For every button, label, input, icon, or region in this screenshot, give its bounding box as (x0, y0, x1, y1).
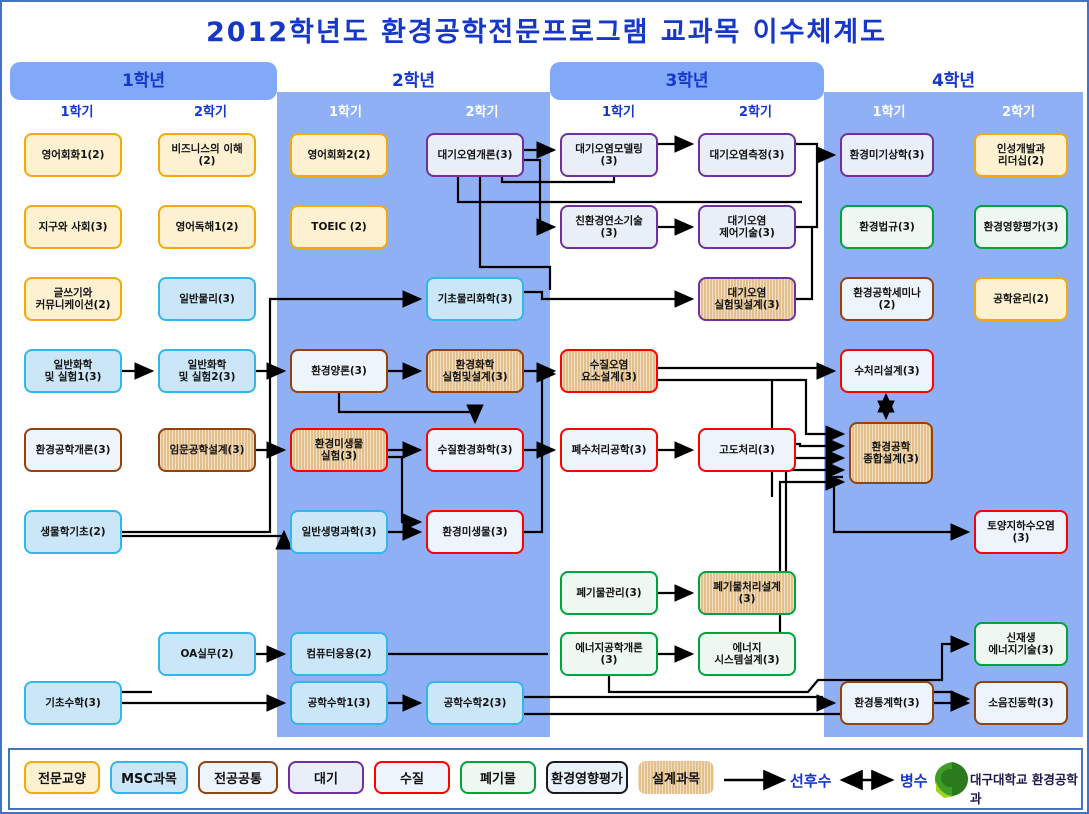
course-box[interactable]: 기초수학(3) (24, 681, 122, 725)
course-box[interactable]: 일반생명과학(3) (290, 510, 388, 554)
course-box[interactable]: 비즈니스의 이해 (2) (158, 133, 256, 177)
legend-item: 설계과목 (638, 761, 714, 794)
course-label: 폐수처리공학(3) (572, 444, 647, 456)
course-label: 환경통계학(3) (854, 697, 919, 709)
course-label: 일반화학 및 실험2(3) (179, 359, 236, 383)
course-label: 소음진동학(3) (988, 697, 1053, 709)
course-label: 비즈니스의 이해 (2) (171, 143, 242, 167)
course-label: 환경공학 종합설계(3) (863, 441, 919, 465)
legend-item-label: 폐기물 (480, 768, 516, 787)
course-label: 환경공학개론(3) (36, 444, 111, 456)
legend-item-label: 대기 (314, 768, 338, 787)
course-label: 폐기물처리설계 (3) (713, 581, 781, 605)
course-box[interactable]: 환경공학세미나 (2) (840, 277, 934, 321)
course-label: 공학수학2(3) (444, 697, 507, 709)
course-label: 환경공학세미나 (2) (853, 287, 921, 311)
semester-header-2-1: 1학기 (277, 102, 414, 124)
course-box[interactable]: 환경통계학(3) (840, 681, 934, 725)
semester-header-2-2: 2학기 (414, 102, 550, 124)
course-box[interactable]: 대기오염측정(3) (698, 133, 796, 177)
course-box[interactable]: 임문공학설계(3) (158, 428, 256, 472)
course-label: 환경화학 실험및설계(3) (442, 359, 507, 383)
course-label: 기초수학(3) (45, 697, 101, 709)
course-box[interactable]: 수질환경화학(3) (426, 428, 524, 472)
course-box[interactable]: 환경미기상학(3) (840, 133, 934, 177)
semester-header-1-1: 1학기 (10, 102, 144, 124)
legend-item: 환경영향평가 (546, 761, 628, 794)
year-header-1: 1학년 (10, 62, 277, 100)
course-label: 영어회화2(2) (308, 149, 371, 161)
legend-item-label: 전문교양 (38, 768, 86, 787)
semester-header-3-1: 1학기 (550, 102, 687, 124)
course-label: 고도처리(3) (719, 444, 775, 456)
year-header-4: 4학년 (824, 62, 1083, 100)
course-label: 생물학기초(2) (40, 526, 105, 538)
course-box[interactable]: 환경법규(3) (840, 205, 934, 249)
course-box[interactable]: 환경화학 실험및설계(3) (426, 349, 524, 393)
course-label: 영어회화1(2) (42, 149, 105, 161)
course-label: 수질오염 요소설계(3) (581, 359, 637, 383)
course-label: 컴퓨터응용(2) (306, 648, 371, 660)
semester-header-3-2: 2학기 (687, 102, 824, 124)
course-box[interactable]: 고도처리(3) (698, 428, 796, 472)
course-box[interactable]: 인성개발과 리더십(2) (974, 133, 1068, 177)
course-box[interactable]: TOEIC (2) (290, 205, 388, 249)
course-box[interactable]: 대기오염 실험및설계(3) (698, 277, 796, 321)
legend-item: MSC과목 (110, 761, 188, 794)
course-label: TOEIC (2) (311, 221, 366, 233)
course-label: 임문공학설계(3) (170, 444, 245, 456)
course-label: 일반물리(3) (179, 293, 235, 305)
course-box[interactable]: OA실무(2) (158, 632, 256, 676)
curriculum-flowchart: 2012학년도 환경공학전문프로그램 교과목 이수체계도 1학년 2학년 3학년… (0, 0, 1089, 814)
course-label: 공학수학1(3) (308, 697, 371, 709)
course-box[interactable]: 공학윤리(2) (974, 277, 1068, 321)
course-box[interactable]: 대기오염모델링 (3) (560, 133, 658, 177)
semester-header-4-1: 1학기 (824, 102, 954, 124)
course-label: 일반화학 및 실험1(3) (45, 359, 102, 383)
course-label: 에너지 시스템설계(3) (714, 642, 779, 666)
legend-item-label: 환경영향평가 (551, 768, 623, 787)
course-label: 환경미생물(3) (442, 526, 507, 538)
legend: 전문교양MSC과목전공공통대기수질폐기물환경영향평가설계과목 선후수 병수 대구… (8, 748, 1083, 810)
semester-header-4-2: 2학기 (954, 102, 1083, 124)
page-title: 2012학년도 환경공학전문프로그램 교과목 이수체계도 (2, 10, 1089, 49)
course-box[interactable]: 환경공학 종합설계(3) (849, 422, 933, 484)
course-box[interactable]: 환경미생물 실험(3) (290, 428, 388, 472)
course-box[interactable]: 폐수처리공학(3) (560, 428, 658, 472)
course-label: 환경미기상학(3) (850, 149, 925, 161)
course-label: 친환경연소기술 (3) (575, 215, 643, 239)
course-label: 수처리설계(3) (854, 365, 919, 377)
course-label: 대기오염 제어기술(3) (719, 215, 775, 239)
legend-coreq-label: 병수 (900, 770, 928, 791)
course-label: 인성개발과 리더십(2) (997, 143, 1045, 167)
course-label: 지구와 사회(3) (39, 221, 108, 233)
course-box[interactable]: 대기오염 제어기술(3) (698, 205, 796, 249)
course-box[interactable]: 수질오염 요소설계(3) (560, 349, 658, 393)
course-label: 대기오염개론(3) (438, 149, 513, 161)
course-box[interactable]: 생물학기초(2) (24, 510, 122, 554)
legend-item-label: MSC과목 (121, 768, 177, 787)
organization-name: 대구대학교 환경공학과 (970, 769, 1081, 807)
course-box[interactable]: 폐기물처리설계 (3) (698, 571, 796, 615)
legend-item-label: 설계과목 (652, 768, 700, 787)
course-label: 수질환경화학(3) (438, 444, 513, 456)
legend-item-label: 수질 (400, 768, 424, 787)
course-box[interactable]: 영어독해1(2) (158, 205, 256, 249)
course-label: OA실무(2) (181, 648, 234, 660)
course-box[interactable]: 수처리설계(3) (840, 349, 934, 393)
course-box[interactable]: 일반화학 및 실험2(3) (158, 349, 256, 393)
university-logo-icon (930, 758, 972, 800)
course-box[interactable]: 환경미생물(3) (426, 510, 524, 554)
course-box[interactable]: 에너지공학개론 (3) (560, 632, 658, 676)
course-label: 신재생 에너지기술(3) (988, 632, 1053, 656)
semester-header-1-2: 2학기 (144, 102, 277, 124)
legend-item: 전공공통 (198, 761, 278, 794)
legend-prereq-label: 선후수 (790, 770, 831, 791)
year-header-3: 3학년 (550, 62, 824, 100)
legend-item: 대기 (288, 761, 364, 794)
year-header-2: 2학년 (277, 62, 550, 100)
course-label: 대기오염측정(3) (710, 149, 785, 161)
course-label: 환경법규(3) (859, 221, 915, 233)
course-box[interactable]: 일반화학 및 실험1(3) (24, 349, 122, 393)
course-box[interactable]: 영어회화2(2) (290, 133, 388, 177)
legend-item: 폐기물 (460, 761, 536, 794)
course-label: 대기오염모델링 (3) (575, 143, 643, 167)
course-box[interactable]: 컴퓨터응용(2) (290, 632, 388, 676)
course-label: 에너지공학개론 (3) (575, 642, 643, 666)
course-label: 토양지하수오염 (3) (987, 520, 1055, 544)
course-label: 폐기물관리(3) (576, 587, 641, 599)
course-box[interactable]: 글쓰기와 커뮤니케이션(2) (24, 277, 122, 321)
course-box[interactable]: 공학수학1(3) (290, 681, 388, 725)
course-label: 환경양론(3) (311, 365, 367, 377)
legend-item-label: 전공공통 (214, 768, 262, 787)
legend-item: 전문교양 (24, 761, 100, 794)
course-box[interactable]: 친환경연소기술 (3) (560, 205, 658, 249)
course-box[interactable]: 공학수학2(3) (426, 681, 524, 725)
course-label: 영어독해1(2) (176, 221, 239, 233)
legend-item: 수질 (374, 761, 450, 794)
course-box[interactable]: 일반물리(3) (158, 277, 256, 321)
course-box[interactable]: 환경양론(3) (290, 349, 388, 393)
course-box[interactable]: 신재생 에너지기술(3) (974, 622, 1068, 666)
course-label: 기초물리화학(3) (438, 293, 513, 305)
course-label: 환경미생물 실험(3) (315, 438, 363, 462)
course-box[interactable]: 환경공학개론(3) (24, 428, 122, 472)
course-label: 대기오염 실험및설계(3) (714, 287, 779, 311)
course-box[interactable]: 에너지 시스템설계(3) (698, 632, 796, 676)
course-label: 환경영향평가(3) (984, 221, 1059, 233)
course-box[interactable]: 지구와 사회(3) (24, 205, 122, 249)
course-label: 일반생명과학(3) (302, 526, 377, 538)
course-box[interactable]: 대기오염개론(3) (426, 133, 524, 177)
course-label: 글쓰기와 커뮤니케이션(2) (36, 287, 111, 311)
course-label: 공학윤리(2) (993, 293, 1049, 305)
course-box[interactable]: 영어회화1(2) (24, 133, 122, 177)
course-box[interactable]: 폐기물관리(3) (560, 571, 658, 615)
course-box[interactable]: 환경영향평가(3) (974, 205, 1068, 249)
course-box[interactable]: 소음진동학(3) (974, 681, 1068, 725)
course-box[interactable]: 기초물리화학(3) (426, 277, 524, 321)
course-box[interactable]: 토양지하수오염 (3) (974, 510, 1068, 554)
